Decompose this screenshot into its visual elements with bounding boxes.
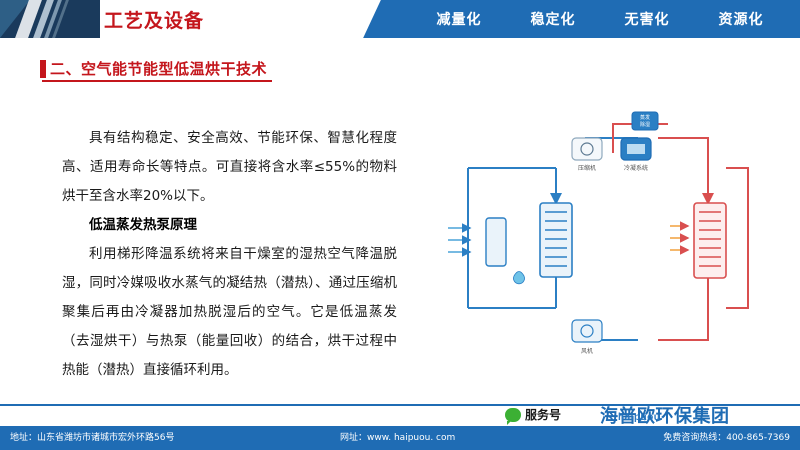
wechat-icon: [505, 408, 521, 422]
brand-name-en: haipuou: [618, 412, 660, 423]
footer-address: 地址：山东省潍坊市诸城市宏外环路56号: [10, 430, 174, 443]
body-text: 具有结构稳定、安全高效、节能环保、智慧化程度高、适用寿命长等特点。可直接将含水率…: [62, 124, 397, 385]
heat-pump-diagram: 压缩机 冷凝系统 蒸发 除湿 风机: [408, 108, 788, 378]
water-drop-icon: [514, 272, 525, 284]
header-logo-block: [0, 0, 100, 38]
slide-root: 工艺及设备 减量化 稳定化 无害化 资源化 二、空气能节能型低温烘干技术 具有结…: [0, 0, 800, 450]
nav-item-resource[interactable]: 资源化: [719, 9, 764, 29]
footer-hotline: 免费咨询热线：400-865-7369: [663, 430, 790, 443]
fan-unit: 风机: [572, 320, 602, 355]
diagram-svg: 压缩机 冷凝系统 蒸发 除湿 风机: [408, 108, 788, 378]
outlet-air-arrows: [670, 226, 688, 250]
air-duct-box: [486, 218, 506, 266]
fan-label: 风机: [581, 347, 593, 355]
header-title: 工艺及设备: [104, 6, 204, 33]
nav-item-harmless[interactable]: 无害化: [625, 9, 670, 29]
wechat-service-account: 服务号: [505, 406, 561, 423]
nav-item-reduction[interactable]: 减量化: [437, 9, 482, 29]
wechat-label: 服务号: [525, 406, 561, 423]
paragraph-subhead: 低温蒸发热泵原理: [62, 211, 397, 240]
slide-header: 工艺及设备 减量化 稳定化 无害化 资源化: [0, 0, 800, 38]
compressor-unit: 压缩机: [572, 138, 602, 172]
nav-item-stabilization[interactable]: 稳定化: [531, 9, 576, 29]
section-accent-bar: [40, 60, 46, 78]
paragraph-2: 利用梯形降温系统将来自干燥室的湿热空气降温脱湿，同时冷媒吸收水蒸气的凝结热（潜热…: [62, 240, 397, 385]
condenser-system-unit: 冷凝系统: [621, 138, 651, 172]
condenser-unit: [694, 203, 726, 278]
section-underline: [42, 80, 272, 82]
condenser-label: 冷凝系统: [624, 164, 648, 172]
paragraph-1: 具有结构稳定、安全高效、节能环保、智慧化程度高、适用寿命长等特点。可直接将含水率…: [62, 124, 397, 211]
svg-text:除湿: 除湿: [640, 121, 650, 128]
evaporator-unit: [540, 203, 572, 277]
header-nav: 减量化 稳定化 无害化 资源化: [400, 0, 800, 38]
svg-text:蒸发: 蒸发: [640, 114, 650, 121]
evaporation-dehumidify-box: 蒸发 除湿: [632, 112, 658, 130]
inlet-air-arrows: [448, 228, 470, 252]
compressor-label: 压缩机: [578, 164, 596, 172]
section-title: 二、空气能节能型低温烘干技术: [50, 58, 267, 79]
footer-website: 网址：www. haipuou. com: [340, 430, 455, 443]
